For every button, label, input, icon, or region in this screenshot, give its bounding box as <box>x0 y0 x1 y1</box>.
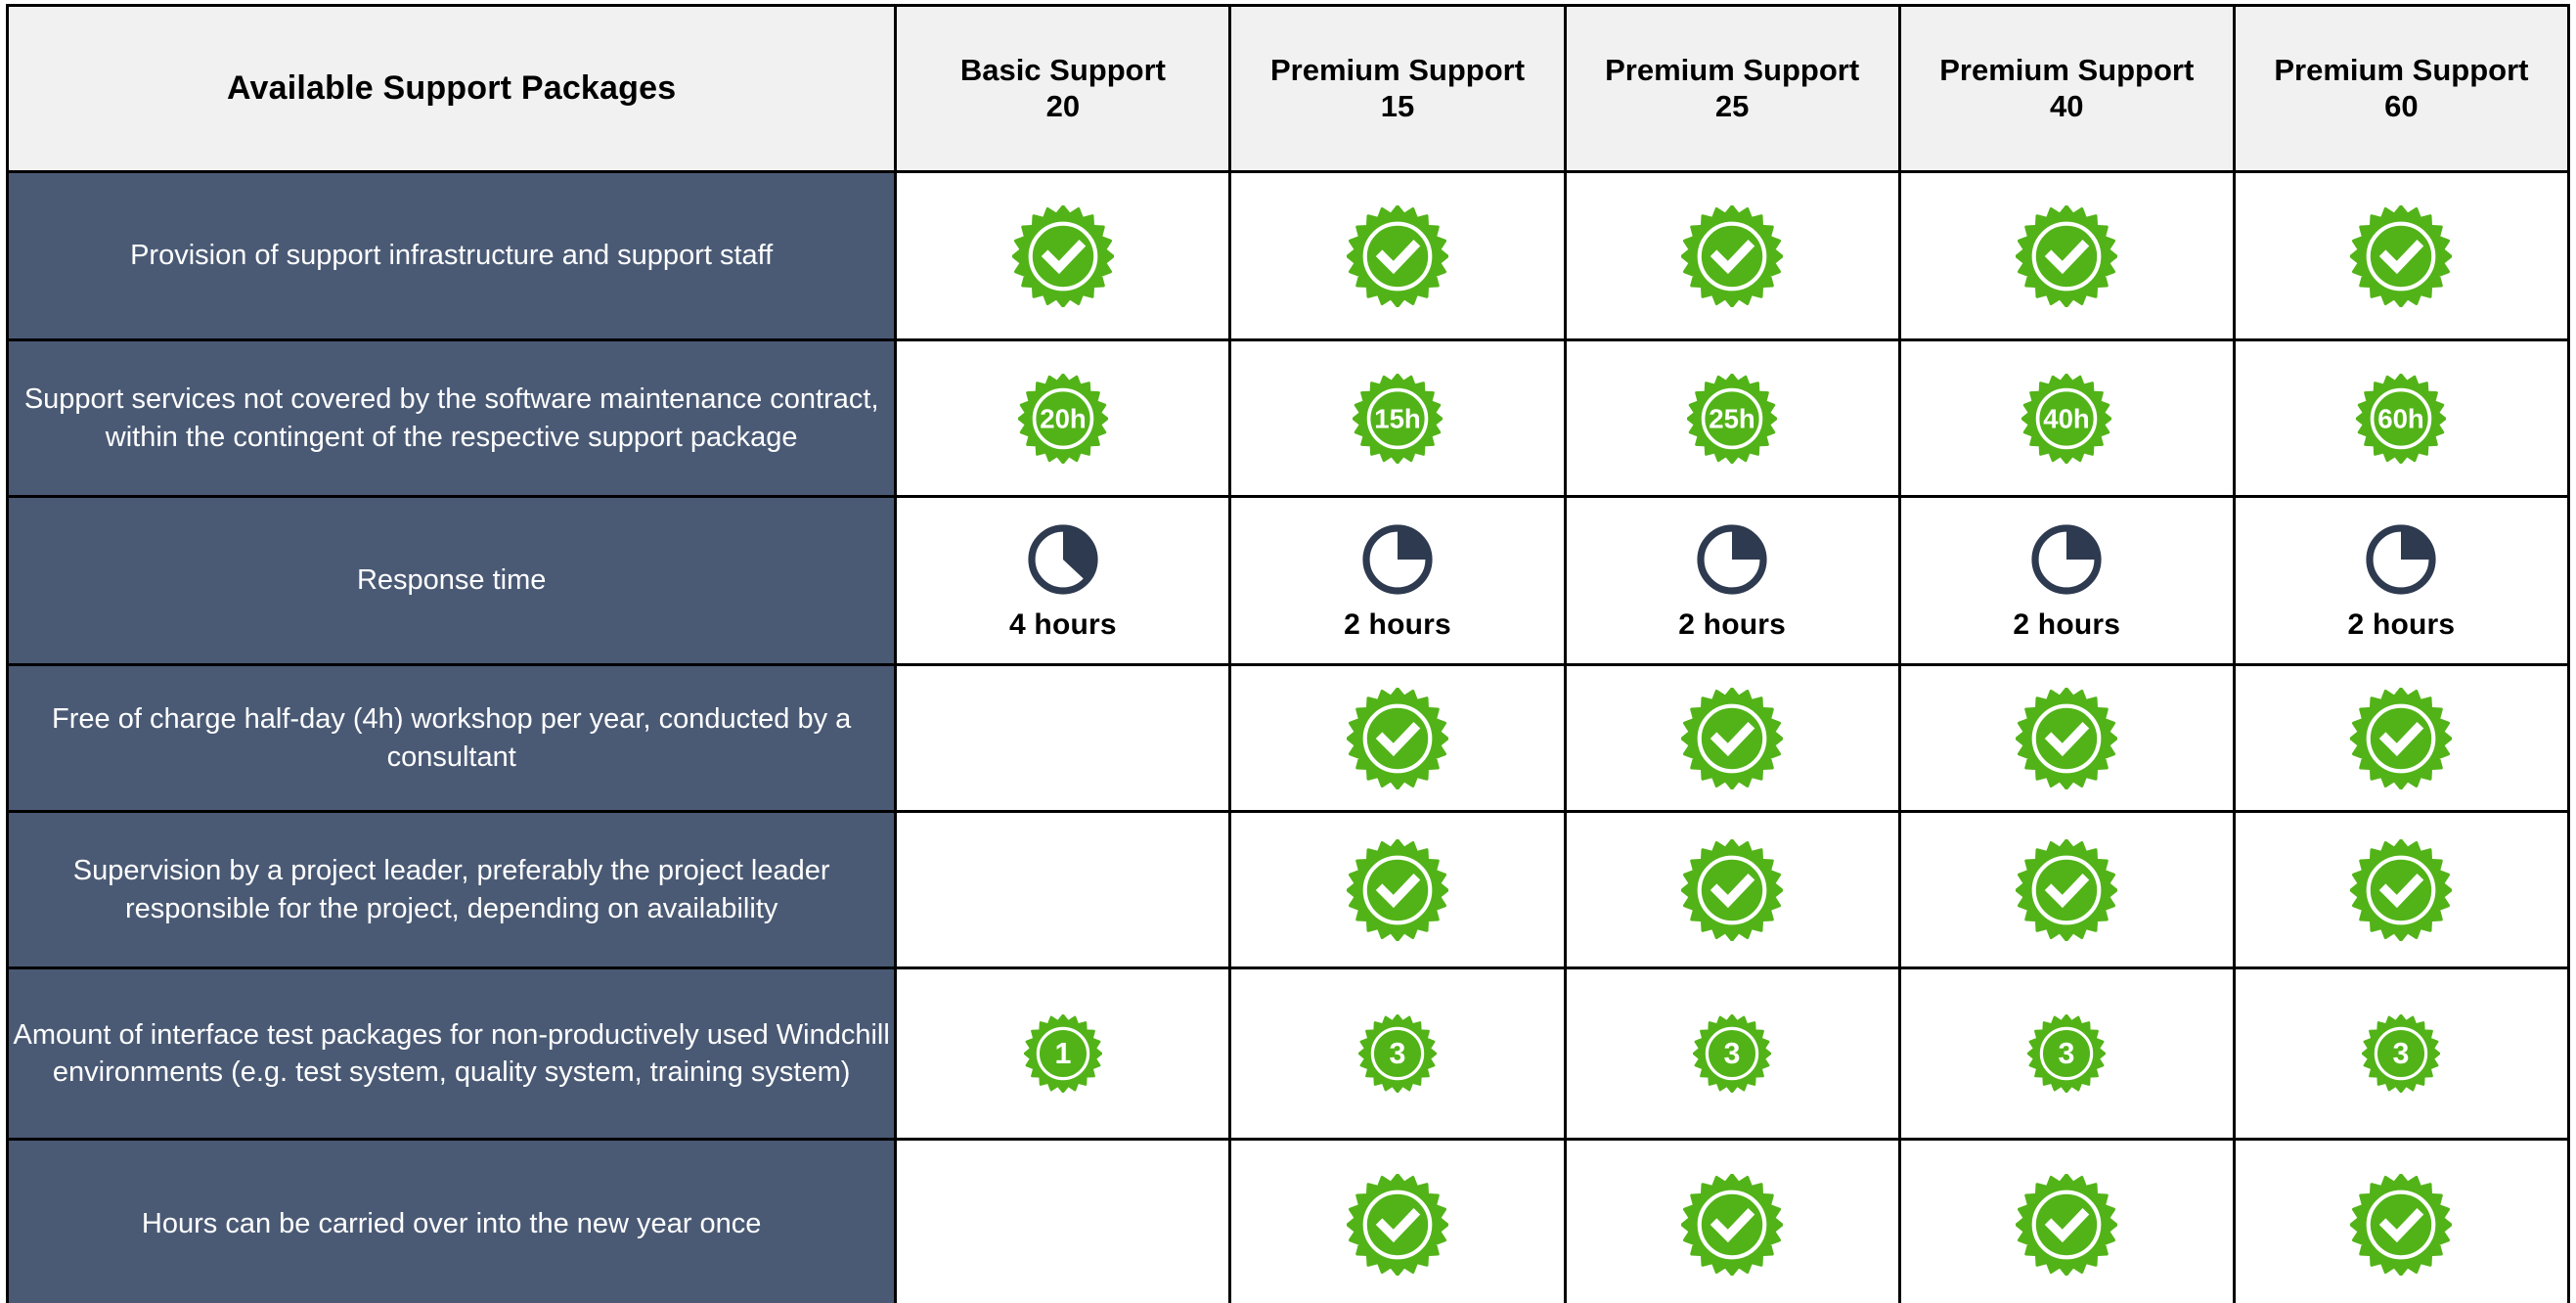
badge-value-text: 15h <box>1374 403 1421 433</box>
support-packages-comparison-table: Available Support Packages Basic Support… <box>6 4 2570 1303</box>
feature-label-cell: Provision of support infrastructure and … <box>8 172 896 340</box>
package-number: 25 <box>1567 89 1898 125</box>
badge-value-text: 1 <box>1054 1037 1071 1070</box>
check-badge-icon <box>1347 688 1448 789</box>
badge-value-text: 60h <box>2378 403 2425 433</box>
package-name: Basic Support <box>897 53 1228 89</box>
value-cell-content <box>897 205 1228 307</box>
value-cell: 4 hours <box>896 497 1230 665</box>
clock-icon <box>1693 520 1771 599</box>
package-column-header-2: Premium Support15 <box>1230 6 1565 172</box>
package-number: 60 <box>2236 89 2567 125</box>
value-cell-content <box>1901 1174 2233 1276</box>
hours-badge-icon: 15h <box>1353 374 1443 464</box>
value-cell-content: 1 <box>897 1014 1228 1093</box>
count-badge-icon: 3 <box>1358 1014 1437 1093</box>
badge-value-text: 40h <box>2044 403 2091 433</box>
value-cell-content: 2 hours <box>1901 520 2233 642</box>
value-cell <box>1565 172 1899 340</box>
table-row: Amount of interface test packages for no… <box>8 968 2569 1140</box>
hours-badge-icon: 25h <box>1687 374 1777 464</box>
value-cell <box>1230 665 1565 812</box>
check-badge-icon <box>2350 205 2452 307</box>
value-cell-content <box>1231 688 1563 789</box>
check-badge-icon <box>1347 839 1448 941</box>
value-cell <box>1230 172 1565 340</box>
value-cell-content <box>1567 1174 1898 1276</box>
package-name: Premium Support <box>1567 53 1898 89</box>
table-header: Available Support Packages Basic Support… <box>8 6 2569 172</box>
package-number: 20 <box>897 89 1228 125</box>
value-cell <box>1565 665 1899 812</box>
value-cell <box>896 665 1230 812</box>
value-cell-content <box>1567 839 1898 941</box>
value-cell-content <box>897 738 1228 739</box>
check-badge-icon <box>2016 205 2117 307</box>
package-column-header-1: Basic Support20 <box>896 6 1230 172</box>
value-cell <box>2234 1140 2568 1303</box>
hours-badge-icon: 40h <box>2021 374 2111 464</box>
table-row: Supervision by a project leader, prefera… <box>8 812 2569 968</box>
value-cell-content <box>2236 1174 2567 1276</box>
package-column-header-4: Premium Support40 <box>1899 6 2234 172</box>
badge-value-text: 3 <box>1390 1037 1406 1070</box>
value-cell: 3 <box>2234 968 2568 1140</box>
package-number: 40 <box>1901 89 2233 125</box>
check-badge-icon <box>1681 688 1783 789</box>
clock-icon <box>2362 520 2440 599</box>
value-cell <box>1899 172 2234 340</box>
badge-value-text: 20h <box>1040 403 1087 433</box>
value-cell: 60h <box>2234 340 2568 497</box>
table-row: Provision of support infrastructure and … <box>8 172 2569 340</box>
response-time-label: 2 hours <box>1678 608 1786 642</box>
value-cell-content: 40h <box>1901 374 2233 464</box>
value-cell-content <box>897 1224 1228 1225</box>
check-badge-icon <box>1681 839 1783 941</box>
value-cell <box>896 812 1230 968</box>
package-column-header-3: Premium Support25 <box>1565 6 1899 172</box>
value-cell: 20h <box>896 340 1230 497</box>
value-cell-content: 3 <box>1901 1014 2233 1093</box>
value-cell <box>2234 172 2568 340</box>
value-cell: 25h <box>1565 340 1899 497</box>
table-row: Response time4 hours2 hours2 hours2 hour… <box>8 497 2569 665</box>
value-cell: 2 hours <box>1565 497 1899 665</box>
value-cell-content <box>1567 205 1898 307</box>
value-cell-content: 20h <box>897 374 1228 464</box>
table-row: Hours can be carried over into the new y… <box>8 1140 2569 1303</box>
response-time-label: 2 hours <box>2348 608 2456 642</box>
check-badge-icon <box>2016 688 2117 789</box>
value-cell: 3 <box>1230 968 1565 1140</box>
clock-icon <box>1024 520 1102 599</box>
value-cell-content: 3 <box>1231 1014 1563 1093</box>
value-cell: 15h <box>1230 340 1565 497</box>
check-badge-icon <box>1012 205 1114 307</box>
value-cell <box>896 172 1230 340</box>
count-badge-icon: 3 <box>1693 1014 1771 1093</box>
check-badge-icon <box>2016 839 2117 941</box>
check-badge-icon <box>2350 839 2452 941</box>
clock-icon <box>2027 520 2106 599</box>
value-cell <box>1565 1140 1899 1303</box>
value-cell-content <box>1231 839 1563 941</box>
empty-cell-marker <box>1062 889 1063 890</box>
value-cell <box>896 1140 1230 1303</box>
value-cell-content <box>2236 839 2567 941</box>
value-cell-content: 4 hours <box>897 520 1228 642</box>
value-cell-content <box>1901 688 2233 789</box>
value-cell-content: 2 hours <box>1231 520 1563 642</box>
response-time-label: 4 hours <box>1009 608 1117 642</box>
value-cell: 2 hours <box>1230 497 1565 665</box>
hours-badge-icon: 60h <box>2356 374 2446 464</box>
check-badge-icon <box>1681 1174 1783 1276</box>
value-cell-content <box>2236 688 2567 789</box>
value-cell-content: 3 <box>2236 1014 2567 1093</box>
value-cell-content: 3 <box>1567 1014 1898 1093</box>
badge-value-text: 3 <box>1724 1037 1741 1070</box>
empty-cell-marker <box>1062 1224 1063 1225</box>
value-cell <box>1230 812 1565 968</box>
feature-label-cell: Supervision by a project leader, prefera… <box>8 812 896 968</box>
badge-value-text: 25h <box>1709 403 1755 433</box>
value-cell: 3 <box>1565 968 1899 1140</box>
value-cell: 2 hours <box>2234 497 2568 665</box>
value-cell <box>1230 1140 1565 1303</box>
value-cell-content: 60h <box>2236 374 2567 464</box>
table-row: Free of charge half-day (4h) workshop pe… <box>8 665 2569 812</box>
check-badge-icon <box>1681 205 1783 307</box>
feature-label-cell: Response time <box>8 497 896 665</box>
value-cell <box>1899 812 2234 968</box>
package-name: Premium Support <box>2236 53 2567 89</box>
count-badge-icon: 3 <box>2362 1014 2440 1093</box>
value-cell-content <box>1901 205 2233 307</box>
value-cell-content <box>1901 839 2233 941</box>
feature-label-cell: Support services not covered by the soft… <box>8 340 896 497</box>
value-cell-content: 2 hours <box>1567 520 1898 642</box>
value-cell-content <box>1231 1174 1563 1276</box>
feature-label-cell: Amount of interface test packages for no… <box>8 968 896 1140</box>
value-cell <box>1565 812 1899 968</box>
feature-label-cell: Hours can be carried over into the new y… <box>8 1140 896 1303</box>
header-row: Available Support Packages Basic Support… <box>8 6 2569 172</box>
package-column-header-5: Premium Support60 <box>2234 6 2568 172</box>
value-cell-content <box>1567 688 1898 789</box>
value-cell-content <box>2236 205 2567 307</box>
clock-icon <box>1358 520 1437 599</box>
value-cell <box>1899 665 2234 812</box>
value-cell-content <box>1231 205 1563 307</box>
count-badge-icon: 1 <box>1024 1014 1102 1093</box>
empty-cell-marker <box>1062 738 1063 739</box>
badge-value-text: 3 <box>2393 1037 2410 1070</box>
hours-badge-icon: 20h <box>1018 374 1108 464</box>
value-cell-content: 2 hours <box>2236 520 2567 642</box>
value-cell-content: 25h <box>1567 374 1898 464</box>
package-name: Premium Support <box>1231 53 1563 89</box>
count-badge-icon: 3 <box>2027 1014 2106 1093</box>
table-row: Support services not covered by the soft… <box>8 340 2569 497</box>
package-name: Premium Support <box>1901 53 2233 89</box>
check-badge-icon <box>1347 205 1448 307</box>
support-packages-table-wrapper: Available Support Packages Basic Support… <box>0 0 2576 1303</box>
value-cell: 1 <box>896 968 1230 1140</box>
table-body: Provision of support infrastructure and … <box>8 172 2569 1303</box>
value-cell-content: 15h <box>1231 374 1563 464</box>
package-number: 15 <box>1231 89 1563 125</box>
value-cell <box>2234 665 2568 812</box>
response-time-label: 2 hours <box>2013 608 2120 642</box>
check-badge-icon <box>2350 1174 2452 1276</box>
feature-label-cell: Free of charge half-day (4h) workshop pe… <box>8 665 896 812</box>
check-badge-icon <box>1347 1174 1448 1276</box>
feature-column-header: Available Support Packages <box>8 6 896 172</box>
value-cell: 3 <box>1899 968 2234 1140</box>
check-badge-icon <box>2350 688 2452 789</box>
value-cell <box>1899 1140 2234 1303</box>
value-cell-content <box>897 889 1228 890</box>
value-cell: 40h <box>1899 340 2234 497</box>
response-time-label: 2 hours <box>1344 608 1451 642</box>
badge-value-text: 3 <box>2059 1037 2075 1070</box>
value-cell: 2 hours <box>1899 497 2234 665</box>
value-cell <box>2234 812 2568 968</box>
check-badge-icon <box>2016 1174 2117 1276</box>
